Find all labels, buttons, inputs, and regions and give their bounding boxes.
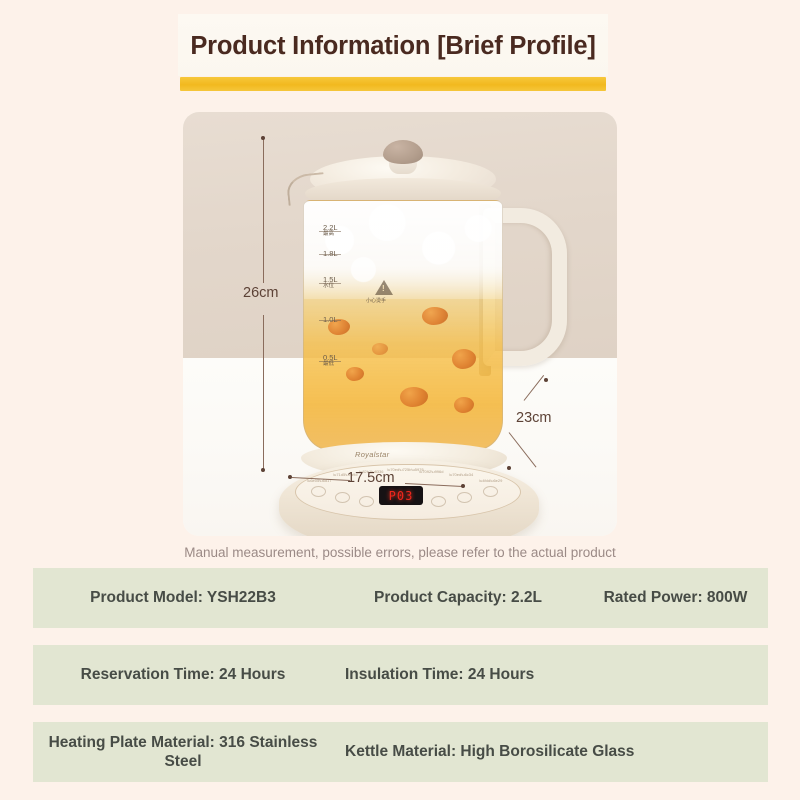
width-dimension-label: 17.5cm bbox=[347, 470, 395, 486]
depth-endpoint-top bbox=[544, 378, 548, 382]
control-button[interactable] bbox=[483, 486, 498, 497]
depth-endpoint-bottom bbox=[507, 466, 511, 470]
volume-mark: 2.2L 最高 bbox=[323, 224, 338, 238]
volume-mark: 1.8L bbox=[323, 250, 338, 258]
height-line-lower bbox=[263, 315, 264, 470]
goji-berry bbox=[422, 307, 448, 325]
spec-row: Product Model: YSH22B3 Product Capacity:… bbox=[33, 568, 768, 628]
spec-kettle-material: Kettle Material: High Borosilicate Glass bbox=[333, 742, 693, 761]
warning-label: 小心烫手 bbox=[366, 297, 386, 304]
volume-mark-value: 2.2L bbox=[323, 223, 338, 232]
volume-mark-label: 最高 bbox=[323, 232, 338, 238]
control-button[interactable] bbox=[359, 496, 374, 507]
warning-triangle-icon bbox=[375, 280, 393, 295]
page-title-banner: Product Information [Brief Profile] bbox=[178, 14, 608, 92]
height-line-upper bbox=[263, 138, 264, 283]
width-endpoint-right bbox=[461, 484, 465, 488]
spec-product-capacity: Product Capacity: 2.2L bbox=[333, 588, 583, 607]
height-endpoint-bottom bbox=[261, 468, 265, 472]
volume-mark: 1.5L 水位 bbox=[323, 276, 338, 290]
kettle-lid-knob bbox=[383, 140, 423, 164]
goji-berry bbox=[346, 367, 364, 381]
spec-reservation-time: Reservation Time: 24 Hours bbox=[33, 665, 333, 684]
goji-berry bbox=[400, 387, 428, 407]
spec-row: Reservation Time: 24 Hours Insulation Ti… bbox=[33, 645, 768, 705]
width-endpoint-left bbox=[288, 475, 292, 479]
control-button-label: \u7092\u996d bbox=[419, 469, 443, 474]
volume-mark-value: 1.8L bbox=[323, 249, 338, 258]
height-endpoint-top bbox=[261, 136, 265, 140]
height-dimension-label: 26cm bbox=[243, 285, 278, 301]
spec-product-model: Product Model: YSH22B3 bbox=[33, 588, 333, 607]
goji-berry bbox=[454, 397, 474, 413]
volume-mark: 0.5L 最低 bbox=[323, 354, 338, 368]
control-button[interactable] bbox=[335, 492, 350, 503]
volume-mark-value: 0.5L bbox=[323, 353, 338, 362]
volume-mark-value: 1.0L bbox=[323, 315, 338, 324]
control-button[interactable] bbox=[457, 492, 472, 503]
spec-row: Heating Plate Material: 316 Stainless St… bbox=[33, 722, 768, 782]
page-title: Product Information [Brief Profile] bbox=[178, 30, 608, 64]
control-button-label: \u70ed\u6c34 bbox=[449, 472, 473, 477]
volume-mark-label: 水位 bbox=[323, 284, 338, 290]
control-button[interactable] bbox=[311, 486, 326, 497]
depth-dimension-label: 23cm bbox=[516, 410, 551, 426]
goji-berry bbox=[452, 349, 476, 369]
volume-mark-value: 1.5L bbox=[323, 275, 338, 284]
brand-logo: Royalstar bbox=[355, 450, 389, 459]
spec-rated-power: Rated Power: 800W bbox=[583, 588, 768, 607]
control-button[interactable] bbox=[431, 496, 446, 507]
product-photo-card: 2.2L 最高 1.8L 1.5L 水位 1.0L 0.5L 最低 小心烫手 R… bbox=[183, 112, 617, 536]
measurement-disclaimer: Manual measurement, possible errors, ple… bbox=[0, 545, 800, 560]
control-button-label: \u4fdd\u6e29 bbox=[479, 478, 502, 483]
spec-heating-plate-material: Heating Plate Material: 316 Stainless St… bbox=[33, 733, 333, 772]
goji-berry bbox=[372, 343, 388, 355]
volume-mark-label: 最低 bbox=[323, 362, 338, 368]
title-underline-bar bbox=[180, 77, 606, 91]
health-pot-kettle-illustration: 2.2L 最高 1.8L 1.5L 水位 1.0L 0.5L 最低 小心烫手 R… bbox=[183, 112, 617, 536]
led-display-value: P03 bbox=[389, 489, 414, 503]
spec-insulation-time: Insulation Time: 24 Hours bbox=[333, 665, 633, 684]
led-display: P03 bbox=[379, 486, 423, 505]
volume-mark: 1.0L bbox=[323, 316, 338, 324]
